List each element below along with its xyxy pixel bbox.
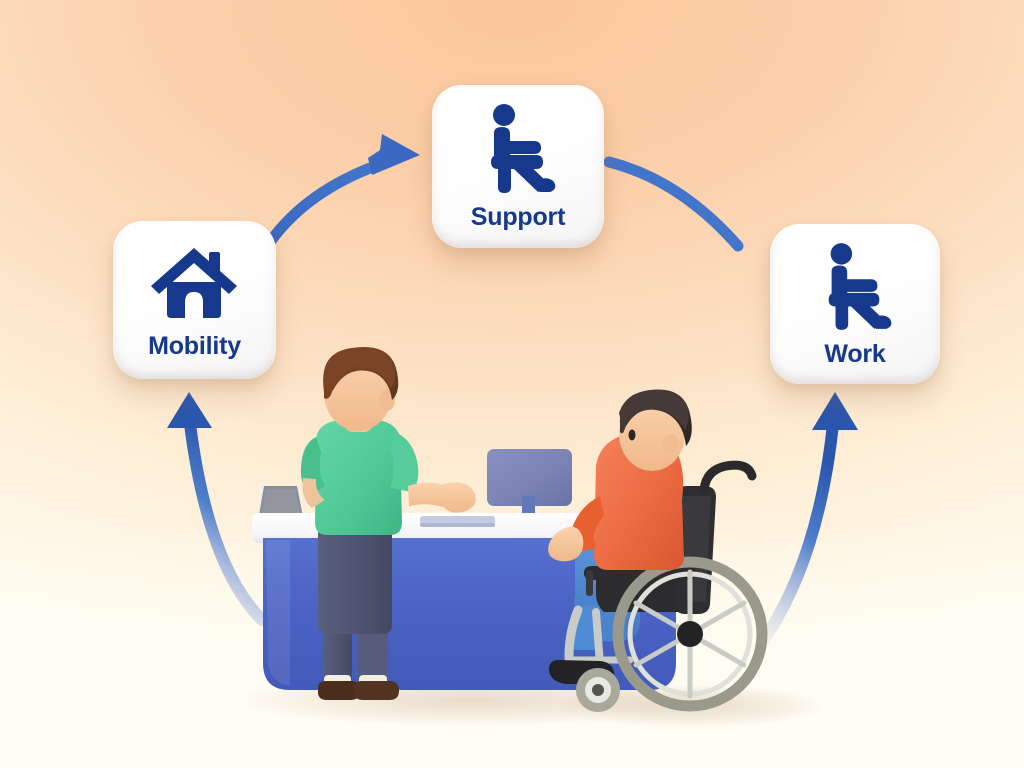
card-label: Work — [824, 342, 885, 367]
seated-person-icon — [816, 242, 894, 332]
illustration-scene: Mobility Support — [0, 0, 1024, 768]
home-icon — [147, 242, 243, 322]
card-mobility[interactable]: Mobility — [113, 221, 276, 379]
card-work[interactable]: Work — [770, 224, 940, 384]
card-label: Support — [471, 205, 565, 230]
card-label: Mobility — [148, 334, 241, 359]
seated-person-icon — [478, 103, 558, 195]
card-support[interactable]: Support — [432, 85, 604, 248]
